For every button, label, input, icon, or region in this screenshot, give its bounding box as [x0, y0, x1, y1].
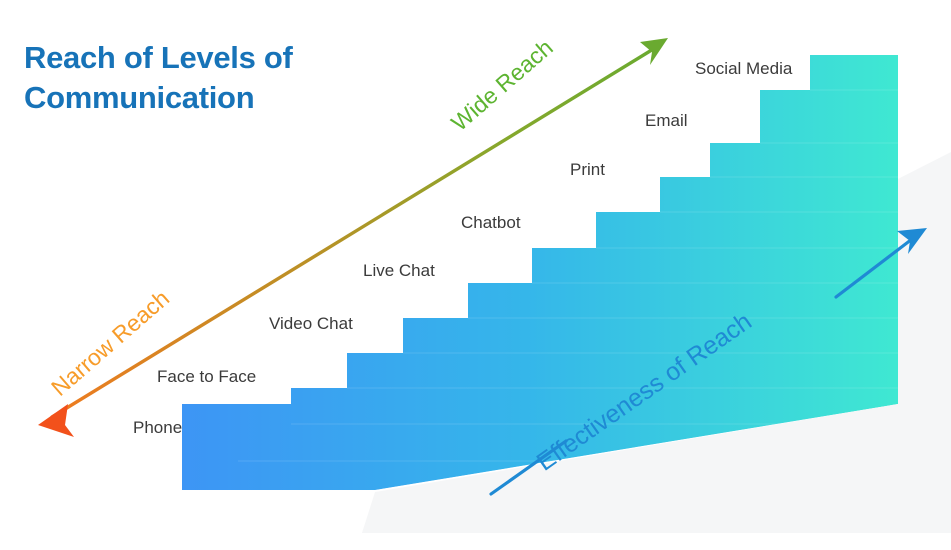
- step-label-live-chat: Live Chat: [363, 262, 435, 279]
- narrow-arrowhead: [38, 404, 74, 437]
- step-label-print: Print: [570, 161, 605, 178]
- page-title: Reach of Levels of Communication: [24, 38, 384, 117]
- step-label-email: Email: [645, 112, 688, 129]
- infographic-canvas: Reach of Levels of Communication Phone F…: [0, 0, 951, 550]
- wide-arrowhead: [640, 38, 668, 65]
- step-label-chatbot: Chatbot: [461, 214, 521, 231]
- step-label-social-media: Social Media: [695, 60, 792, 77]
- page-title-line-1: Reach of Levels of: [24, 38, 384, 78]
- page-title-line-2: Communication: [24, 78, 384, 118]
- step-label-face-to-face: Face to Face: [157, 368, 256, 385]
- step-label-video-chat: Video Chat: [269, 315, 353, 332]
- step-label-phone: Phone: [133, 419, 182, 436]
